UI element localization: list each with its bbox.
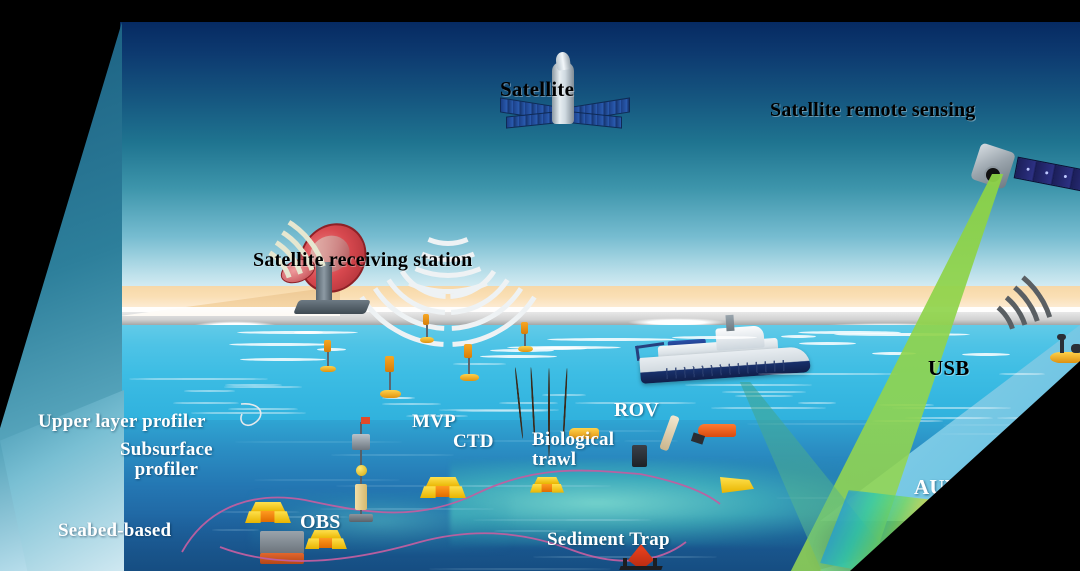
ocean-observation-figure: SatelliteSatellite remote sensingSatelli… [0, 0, 1080, 571]
buoy-tether [524, 334, 526, 347]
lander-payload [260, 511, 276, 522]
upper-layer-profiler-instrument [352, 434, 370, 450]
buoy-tether [468, 358, 470, 374]
buoy-tower [385, 356, 394, 372]
buoy-float [380, 390, 401, 398]
label-ctd: CTD [453, 432, 494, 452]
label-obs: OBS [300, 512, 341, 533]
lander-payload [318, 538, 332, 548]
label-mvp: MVP [412, 412, 456, 432]
buoy-float [320, 366, 336, 372]
usb-surface-vehicle [1050, 352, 1080, 363]
label-upper-layer-profiler: Upper layer profiler [38, 412, 206, 432]
profiler-float-sphere [356, 465, 367, 476]
label-sediment-trap: Sediment Trap [547, 530, 670, 550]
label-seabed-based: Seabed-based [58, 521, 171, 541]
buoy-tether [426, 325, 428, 337]
buoy-tower [464, 344, 472, 358]
mooring-line [640, 474, 720, 504]
lander-payload [435, 486, 451, 497]
lander-payload [541, 484, 553, 492]
label-satellite-receiving-station: Satellite receiving station [253, 250, 472, 271]
profiler-surface-flag [361, 417, 370, 424]
profiler-anchor [349, 514, 373, 522]
label-satellite: Satellite [500, 78, 574, 100]
ctd-rosette [632, 445, 647, 467]
buoy-tower [423, 314, 429, 325]
label-subsurface-profiler: Subsurface profiler [120, 440, 213, 480]
buoy-tether [327, 352, 329, 366]
sediment-trap-leg-left [623, 558, 627, 570]
label-rov: ROV [614, 400, 659, 421]
label-usb: USB [928, 357, 969, 379]
buoy-tether [389, 372, 391, 390]
buoy-float [420, 337, 434, 343]
buoy-tower [521, 322, 527, 334]
label-satellite-remote-sensing: Satellite remote sensing [770, 100, 976, 121]
buoy-float [518, 346, 533, 352]
top-black-strip [0, 0, 1080, 22]
usb-equipment-pod [1071, 344, 1080, 353]
subsurface-profiler-instrument [355, 484, 367, 510]
buoy-float [460, 374, 479, 381]
usb-antenna-head [1057, 334, 1066, 340]
buoy-tower [324, 340, 331, 352]
label-biological-trawl: Biological trawl [532, 430, 614, 470]
profiler-tether [241, 404, 261, 426]
sediment-trap-leg-right [653, 558, 657, 570]
